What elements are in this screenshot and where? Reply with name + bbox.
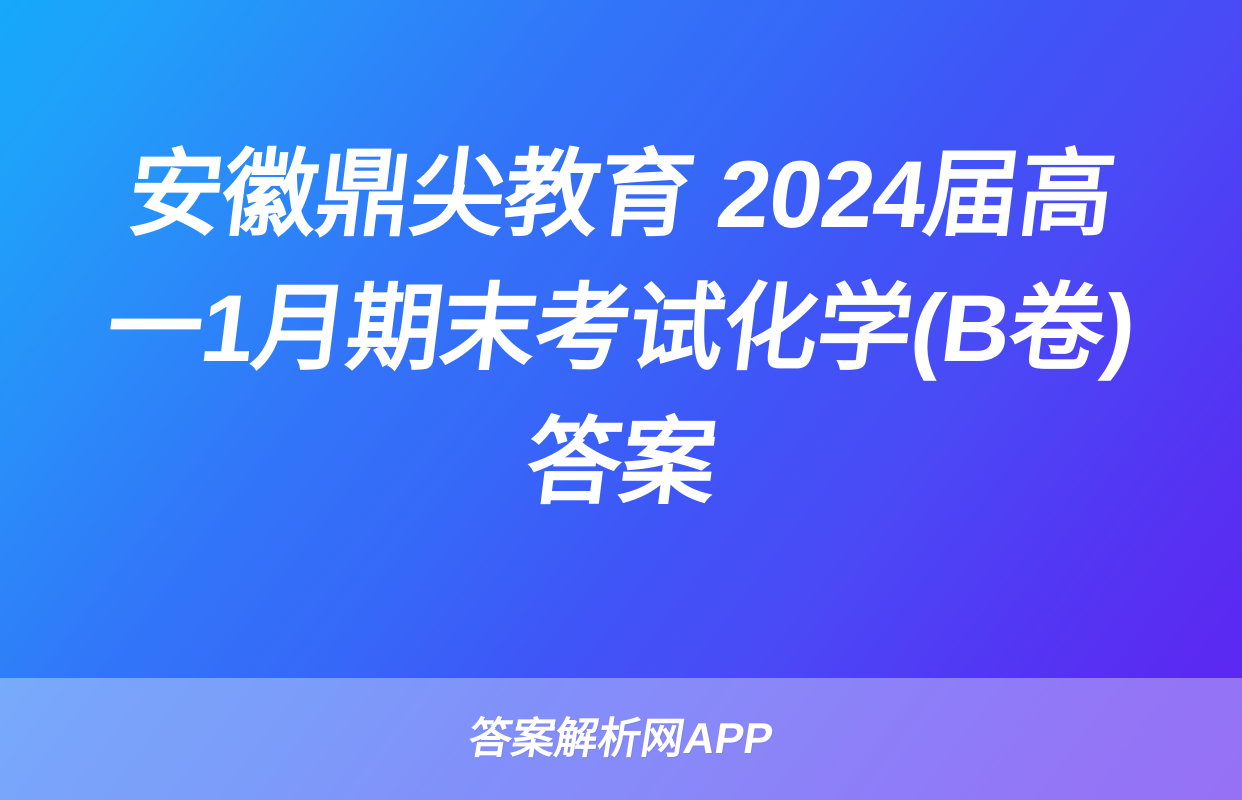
app-promo-banner[interactable]: 答案解析网APP [0,678,1242,800]
headline-line-3: 答案 [38,396,1204,530]
headline-line-1: 安徽鼎尖教育 2024届高 [38,128,1204,262]
headline-line-2: 一1月期末考试化学(B卷) [38,262,1204,396]
answer-poster: 安徽鼎尖教育 2024届高 一1月期末考试化学(B卷) 答案 答案解析网APP [0,0,1242,800]
headline-block: 安徽鼎尖教育 2024届高 一1月期末考试化学(B卷) 答案 [0,0,1242,678]
app-promo-banner-label: 答案解析网APP [466,718,776,761]
